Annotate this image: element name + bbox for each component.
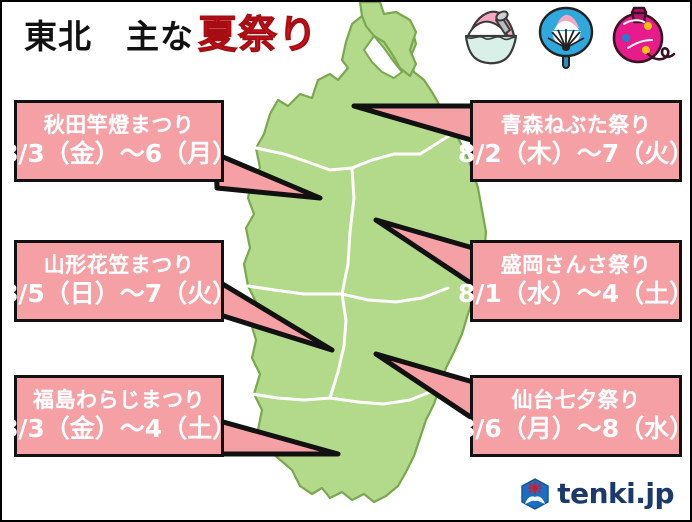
water-balloon-yoyo-icon (608, 4, 680, 70)
festival-dates-fukushima: 8/3（金）〜4（土） (1, 416, 237, 442)
map-landmass (244, 2, 486, 502)
callout-aomori[interactable]: 青森ねぶた祭り 8/2（木）〜7（火） (470, 100, 682, 182)
shaved-ice-icon (458, 4, 524, 68)
callout-yamagata[interactable]: 山形花笠まつり 8/5（日）〜7（火） (14, 240, 224, 322)
callout-fukushima[interactable]: 福島わらじまつり 8/3（金）〜4（土） (14, 375, 224, 457)
callout-morioka[interactable]: 盛岡さんさ祭り 8/1（水）〜4（土） (470, 240, 682, 322)
tohoku-outline (244, 12, 486, 502)
festival-dates-yamagata: 8/5（日）〜7（火） (1, 281, 237, 307)
page-title-black: 東北 主な (24, 17, 194, 56)
tenki-jp-logo-text: tenki.jp (557, 480, 674, 508)
festival-dates-sendai: 8/6（月）〜8（水） (458, 416, 692, 442)
summer-icon-group (458, 4, 680, 70)
festival-dates-morioka: 8/1（水）〜4（土） (458, 281, 692, 307)
tohoku-region-map (234, 2, 502, 522)
callout-sendai[interactable]: 仙台七夕祭り 8/6（月）〜8（水） (470, 375, 682, 457)
festival-name-morioka: 盛岡さんさ祭り (501, 254, 652, 276)
festival-dates-aomori: 8/2（木）〜7（火） (458, 141, 692, 167)
round-fan-icon (534, 4, 600, 70)
infographic-canvas: 東北 主な夏祭り (0, 0, 692, 522)
tenki-cube-icon (520, 478, 550, 510)
festival-dates-akita: 8/3（金）〜6（月） (1, 141, 237, 167)
callout-akita[interactable]: 秋田竿燈まつり 8/3（金）〜6（月） (14, 100, 224, 182)
tenki-jp-logo[interactable]: tenki.jp (520, 478, 674, 510)
festival-name-akita: 秋田竿燈まつり (44, 114, 195, 136)
festival-name-yamagata: 山形花笠まつり (44, 254, 195, 276)
festival-name-fukushima: 福島わらじまつり (33, 389, 205, 411)
festival-name-sendai: 仙台七夕祭り (512, 389, 641, 411)
festival-name-aomori: 青森ねぶた祭り (501, 114, 652, 136)
